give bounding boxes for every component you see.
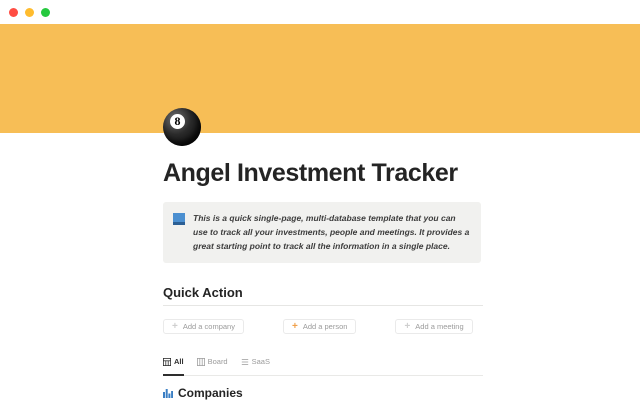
add-person-button[interactable]: + Add a person — [283, 319, 356, 334]
minimize-window-button[interactable] — [25, 8, 34, 17]
database-view-tabs: All Board SaaS — [163, 357, 483, 376]
page-content: Angel Investment Tracker This is a quick… — [163, 158, 640, 400]
add-meeting-label: Add a meeting — [415, 322, 463, 331]
section-divider — [163, 305, 483, 306]
tab-saas[interactable]: SaaS — [241, 357, 270, 370]
tab-saas-label: SaaS — [252, 357, 270, 366]
tab-all[interactable]: All — [163, 357, 184, 370]
close-window-button[interactable] — [9, 8, 18, 17]
add-person-label: Add a person — [303, 322, 348, 331]
tab-all-label: All — [174, 357, 184, 366]
plus-icon: + — [292, 322, 298, 332]
callout-block[interactable]: This is a quick single-page, multi-datab… — [163, 202, 481, 263]
tab-board-label: Board — [208, 357, 228, 366]
database-title-text: Companies — [178, 386, 243, 400]
board-view-icon — [197, 358, 205, 366]
quick-action-buttons: + Add a company + Add a person + Add a m… — [163, 319, 640, 334]
page-cover-banner[interactable] — [0, 24, 640, 133]
app-window: Angel Investment Tracker This is a quick… — [0, 0, 640, 400]
add-company-button[interactable]: + Add a company — [163, 319, 244, 334]
list-view-icon — [241, 358, 249, 366]
plus-icon: + — [172, 322, 178, 332]
add-meeting-button[interactable]: + Add a meeting — [395, 319, 472, 334]
tab-board[interactable]: Board — [197, 357, 228, 370]
add-company-label: Add a company — [183, 322, 235, 331]
window-titlebar — [0, 0, 640, 24]
database-title[interactable]: Companies — [163, 386, 640, 400]
database-bars-icon — [163, 389, 173, 398]
blue-flag-icon — [173, 213, 185, 225]
quick-action-heading: Quick Action — [163, 285, 640, 300]
eight-ball-icon[interactable] — [163, 108, 203, 148]
maximize-window-button[interactable] — [41, 8, 50, 17]
page-title: Angel Investment Tracker — [163, 158, 640, 188]
plus-icon: + — [404, 322, 410, 332]
callout-text: This is a quick single-page, multi-datab… — [193, 211, 470, 253]
table-view-icon — [163, 358, 171, 366]
